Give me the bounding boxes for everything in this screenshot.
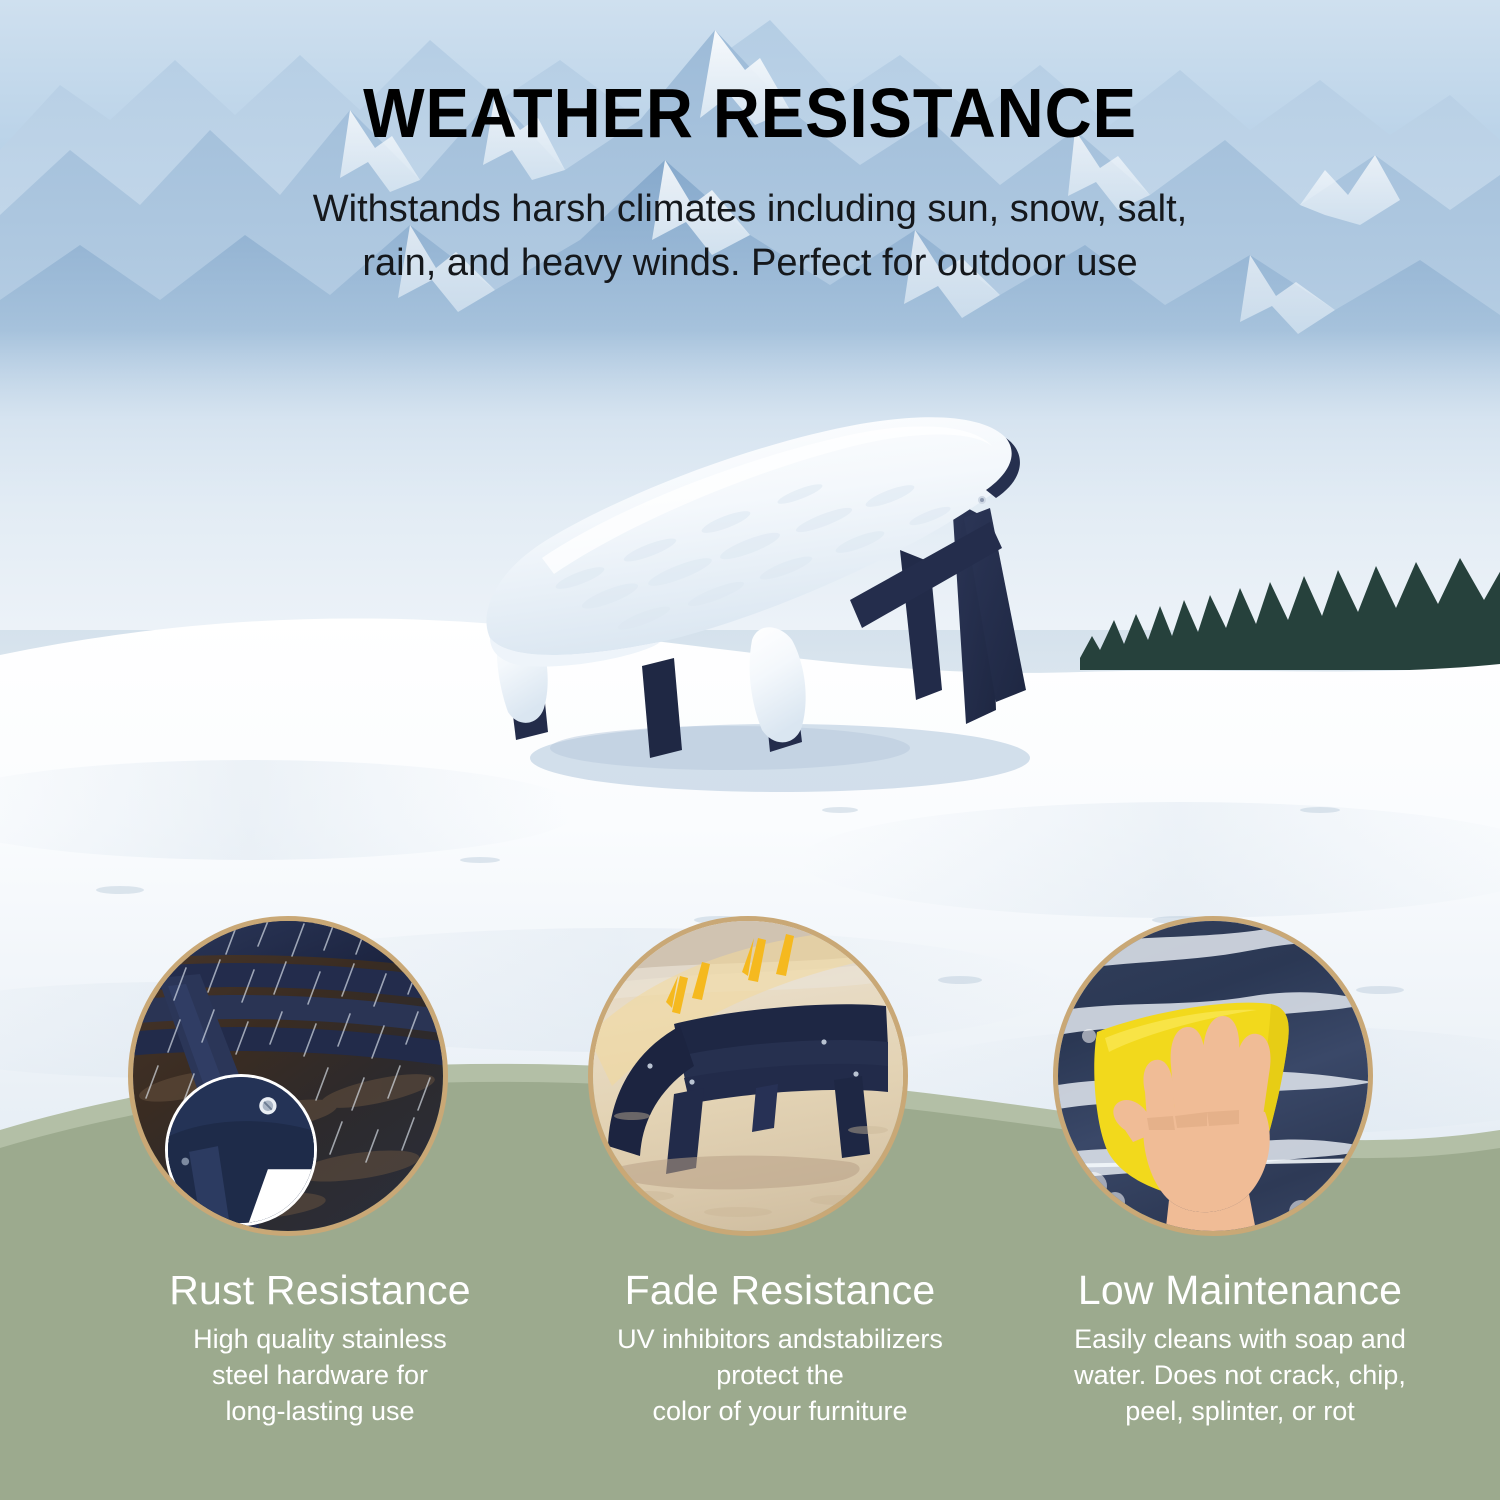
rust-body-line-2: steel hardware for [212,1360,428,1390]
feature-image-fade-resistance [588,916,908,1236]
fade-body-line-3: color of your furniture [652,1396,907,1426]
fade-resistance-photo [588,916,908,1236]
fade-body-line-1: UV inhibitors andstabilizers [617,1324,943,1354]
feature-text-rust-resistance: Rust Resistance High quality stainless s… [60,1268,580,1430]
feature-body-fade-resistance: UV inhibitors andstabilizers protect the… [520,1322,1040,1430]
feature-text-low-maintenance: Low Maintenance Easily cleans with soap … [980,1268,1500,1430]
feature-title-rust-resistance: Rust Resistance [60,1268,580,1313]
rust-resistance-photo [128,916,448,1236]
low-maintenance-photo [1053,916,1373,1236]
feature-body-low-maintenance: Easily cleans with soap and water. Does … [980,1322,1500,1430]
subtitle-line-1: Withstands harsh climates including sun,… [250,183,1250,237]
rust-body-line-1: High quality stainless [193,1324,447,1354]
feature-image-rust-resistance [128,916,448,1236]
feature-text-fade-resistance: Fade Resistance UV inhibitors andstabili… [520,1268,1040,1430]
subtitle-line-2: rain, and heavy winds. Perfect for outdo… [250,237,1250,291]
feature-title-fade-resistance: Fade Resistance [520,1268,1040,1313]
page-subtitle: Withstands harsh climates including sun,… [250,183,1250,291]
rust-body-line-3: long-lasting use [225,1396,414,1426]
screw-magnifier-inset [165,1074,317,1226]
clean-body-line-1: Easily cleans with soap and [1074,1324,1406,1354]
hero-snow-covered-bench [430,390,1110,810]
clean-body-line-2: water. Does not crack, chip, [1074,1360,1406,1390]
clean-body-line-3: peel, splinter, or rot [1125,1396,1355,1426]
feature-title-low-maintenance: Low Maintenance [980,1268,1500,1313]
hand-with-yellow-cloth-cleaning [1053,916,1373,1236]
page-title: WEATHER RESISTANCE [53,78,1448,148]
bench-on-sand-with-uv-rays [588,916,908,1236]
feature-image-low-maintenance [1053,916,1373,1236]
product-feature-infographic: WEATHER RESISTANCE Withstands harsh clim… [0,0,1500,1500]
feature-body-rust-resistance: High quality stainless steel hardware fo… [60,1322,580,1430]
fade-body-line-2: protect the [716,1360,844,1390]
